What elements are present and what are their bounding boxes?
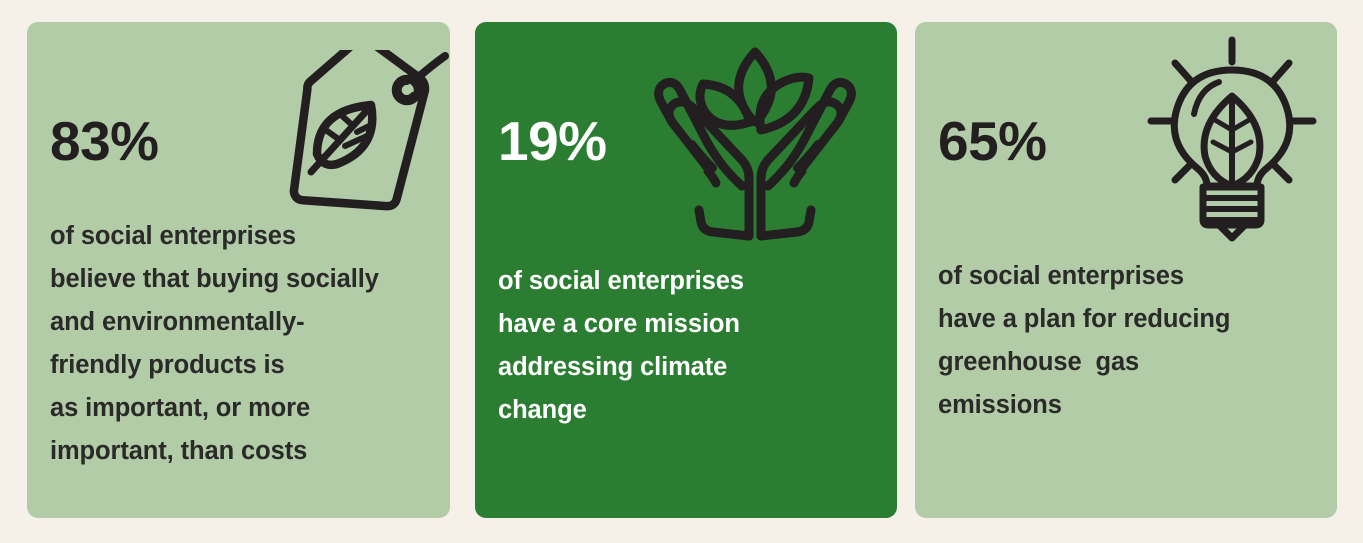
stat-description: of social enterprises have a plan for re…: [938, 255, 1230, 427]
stat-percentage: 83%: [50, 114, 159, 169]
stat-description: of social enterprises have a core missio…: [498, 260, 744, 432]
hands-holding-plant-icon: [645, 40, 865, 245]
lightbulb-leaf-icon: [1137, 34, 1327, 244]
stat-description: of social enterprises believe that buyin…: [50, 215, 379, 473]
stat-percentage: 19%: [498, 114, 607, 169]
stat-card-hands: 19% of social enterprises have a core mi…: [475, 22, 897, 518]
stat-card-price-tag: 83% of social enterprises believe that b…: [27, 22, 450, 518]
price-tag-leaf-icon: [255, 50, 450, 225]
stat-card-lightbulb: 65%: [915, 22, 1337, 518]
infographic-board: 83% of social enterprises believe that b…: [0, 0, 1363, 543]
stat-percentage: 65%: [938, 114, 1047, 169]
